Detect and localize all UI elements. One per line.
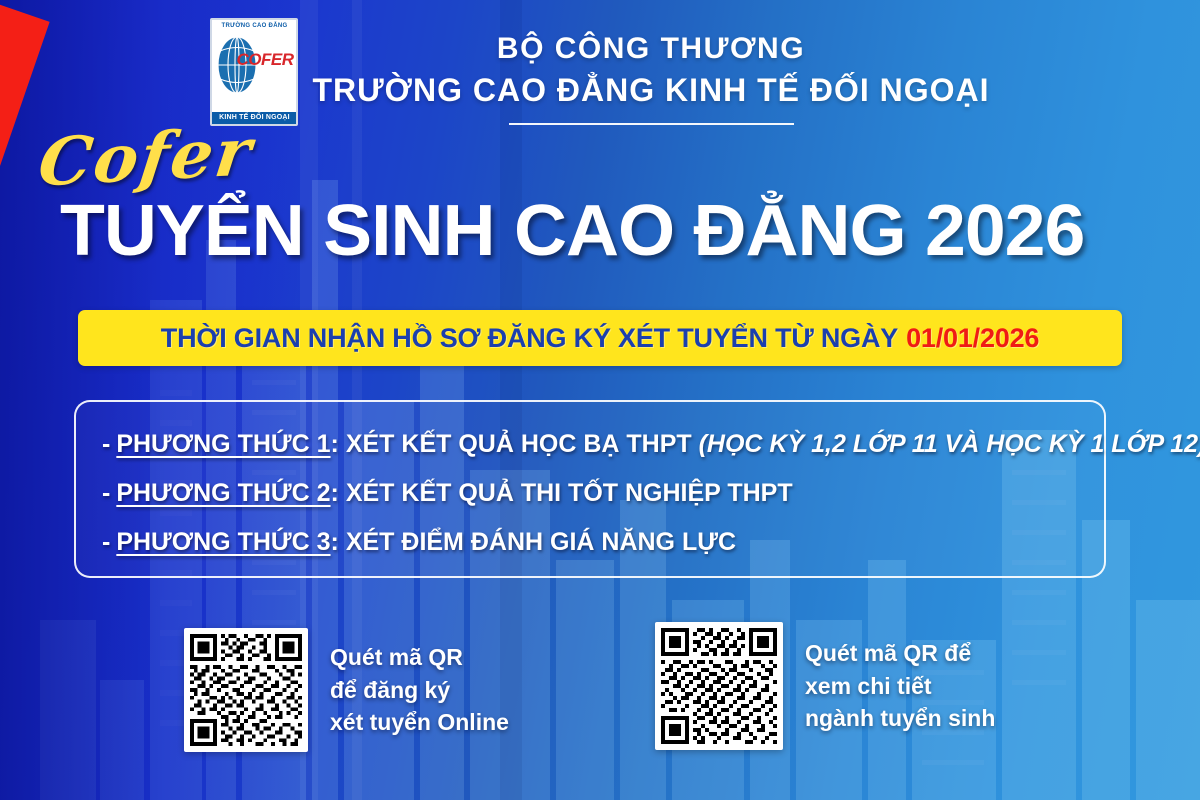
qr-caption-1-line3: xét tuyển Online: [330, 706, 509, 739]
method-1-label: PHƯƠNG THỨC 1: [116, 430, 330, 458]
header-divider: [509, 123, 794, 125]
qr-caption-2: Quét mã QR để xem chi tiết ngành tuyển s…: [805, 637, 995, 735]
banner-start-date: 01/01/2026: [906, 323, 1039, 353]
method-1-note: (HỌC KỲ 1,2 LỚP 11 VÀ HỌC KỲ 1 LỚP 12): [699, 430, 1200, 458]
method-3-label: PHƯƠNG THỨC 3: [116, 528, 330, 556]
school-logo: TRƯỜNG CAO ĐẲNG COFER KINH TẾ ĐỐI NGOẠI: [210, 18, 298, 126]
qr-caption-1-line1: Quét mã QR: [330, 641, 509, 674]
qr-frame-1[interactable]: [184, 628, 308, 752]
page-title: TUYỂN SINH CAO ĐẲNG 2026: [60, 190, 1172, 272]
method-2-label: PHƯƠNG THỨC 2: [116, 479, 330, 507]
qr-caption-2-line3: ngành tuyển sinh: [805, 702, 995, 735]
method-3-dash: -: [102, 528, 110, 556]
school-title: TRƯỜNG CAO ĐẲNG KINH TẾ ĐỐI NGOẠI: [312, 72, 989, 109]
qr-code-icon[interactable]: [661, 628, 777, 744]
method-3-body: : XÉT ĐIỂM ĐÁNH GIÁ NĂNG LỰC: [331, 528, 736, 556]
banner-label: THỜI GIAN NHẬN HỒ SƠ ĐĂNG KÝ XÉT TUYỂN T…: [161, 323, 1039, 354]
qr-caption-1-line2: để đăng ký: [330, 674, 509, 707]
ministry-title: BỘ CÔNG THƯƠNG: [312, 32, 989, 66]
logo-brand-text: COFER: [236, 50, 293, 70]
header-text-group: BỘ CÔNG THƯƠNG TRƯỜNG CAO ĐẲNG KINH TẾ Đ…: [312, 18, 989, 125]
qr-frame-2[interactable]: [655, 622, 783, 750]
admission-methods-box: -PHƯƠNG THỨC 1: XÉT KẾT QUẢ HỌC BẠ THPT …: [74, 400, 1106, 578]
method-2-dash: -: [102, 479, 110, 507]
qr-caption-1: Quét mã QR để đăng ký xét tuyển Online: [330, 641, 509, 739]
logo-top-text: TRƯỜNG CAO ĐẲNG: [212, 23, 296, 29]
qr-block-program-details[interactable]: Quét mã QR để xem chi tiết ngành tuyển s…: [655, 622, 995, 750]
admission-method-2: -PHƯƠNG THỨC 2: XÉT KẾT QUẢ THI TỐT NGHI…: [102, 479, 793, 508]
qr-code-icon[interactable]: [190, 634, 302, 746]
poster-header: TRƯỜNG CAO ĐẲNG COFER KINH TẾ ĐỐI NGOẠI …: [0, 18, 1200, 126]
qr-caption-2-line1: Quét mã QR để: [805, 637, 995, 670]
qr-block-online-registration[interactable]: Quét mã QR để đăng ký xét tuyển Online: [184, 628, 509, 752]
cofer-script-wordmark: Cofer: [34, 113, 257, 202]
method-2-body: : XÉT KẾT QUẢ THI TỐT NGHIỆP THPT: [331, 479, 793, 507]
admission-method-3: -PHƯƠNG THỨC 3: XÉT ĐIỂM ĐÁNH GIÁ NĂNG L…: [102, 528, 736, 557]
banner-text: THỜI GIAN NHẬN HỒ SƠ ĐĂNG KÝ XÉT TUYỂN T…: [161, 323, 898, 353]
admission-method-1: -PHƯƠNG THỨC 1: XÉT KẾT QUẢ HỌC BẠ THPT …: [102, 430, 1200, 459]
admission-poster: TRƯỜNG CAO ĐẲNG COFER KINH TẾ ĐỐI NGOẠI …: [0, 0, 1200, 800]
qr-caption-2-line2: xem chi tiết: [805, 670, 995, 703]
method-1-body: : XÉT KẾT QUẢ HỌC BẠ THPT: [331, 430, 699, 458]
method-1-dash: -: [102, 430, 110, 458]
application-period-banner: THỜI GIAN NHẬN HỒ SƠ ĐĂNG KÝ XÉT TUYỂN T…: [78, 310, 1122, 366]
